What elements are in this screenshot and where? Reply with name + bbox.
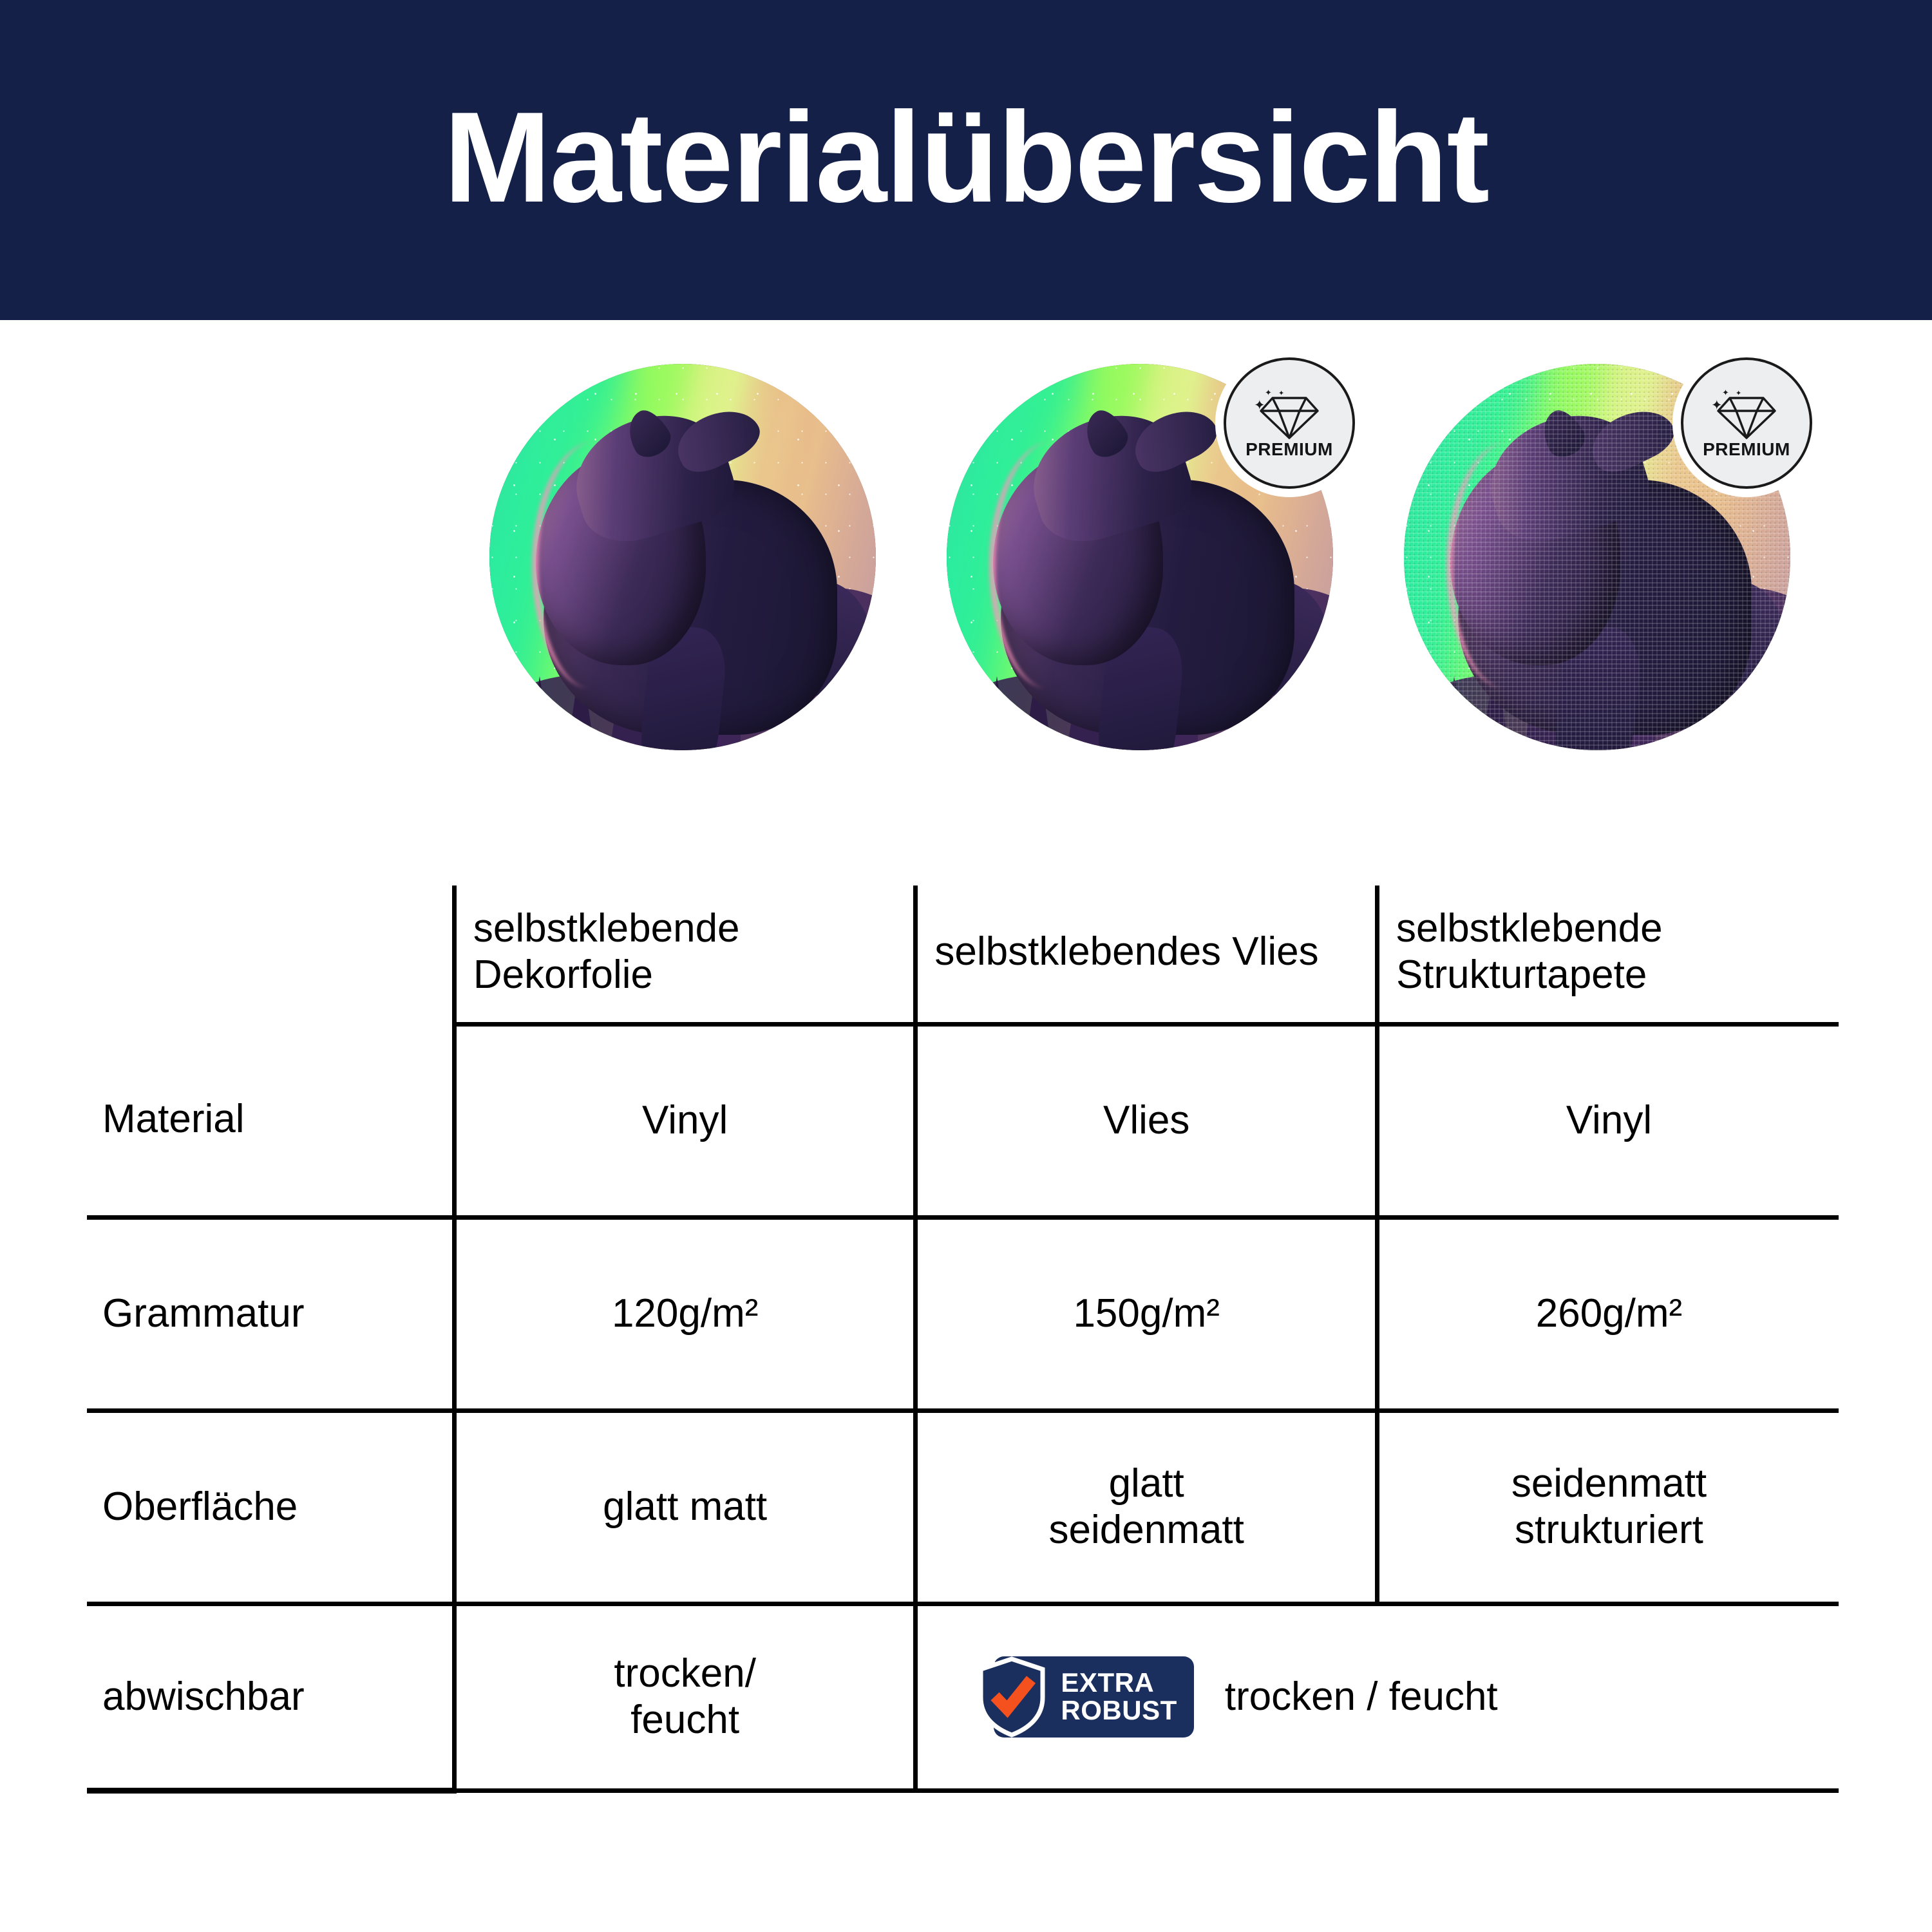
cell-grammatur-dekorfolie: 120g/m² bbox=[454, 1217, 916, 1410]
table-row: Grammatur 120g/m² 150g/m² 260g/m² bbox=[87, 1217, 1839, 1410]
cell-abwischbar-dekorfolie: trocken/feucht bbox=[454, 1604, 916, 1790]
cell-material-dekorfolie: Vinyl bbox=[454, 1024, 916, 1217]
row-label-abwischbar: abwischbar bbox=[87, 1604, 454, 1790]
table-row: Material Vinyl Vlies Vinyl bbox=[87, 1024, 1839, 1217]
cell-abwischbar-merged: EXTRA ROBUST trocken / feucht bbox=[916, 1604, 1839, 1790]
premium-badge: ✦ ✦ ✦ PREMIUM bbox=[1681, 357, 1812, 489]
product-image-dekorfolie bbox=[489, 364, 876, 750]
page-header: Materialübersicht bbox=[0, 0, 1932, 320]
material-spec-table: selbstklebende Dekorfolie selbstklebende… bbox=[87, 885, 1839, 1794]
table-corner-cell bbox=[87, 885, 454, 1024]
extra-robust-line1: EXTRA bbox=[1061, 1669, 1177, 1697]
row-label-oberflaeche: Oberfläche bbox=[87, 1410, 454, 1604]
extra-robust-line2: ROBUST bbox=[1061, 1697, 1177, 1725]
table-header-row: selbstklebende Dekorfolie selbstklebende… bbox=[87, 885, 1839, 1024]
table-row: Oberfläche glatt matt glattseidenmatt se… bbox=[87, 1410, 1839, 1604]
cell-oberflaeche-strukturtapete: seidenmattstrukturiert bbox=[1377, 1410, 1839, 1604]
row-label-grammatur: Grammatur bbox=[87, 1217, 454, 1410]
shield-check-icon bbox=[977, 1656, 1046, 1738]
cell-abwischbar-value: trocken / feucht bbox=[1225, 1674, 1498, 1720]
diamond-icon: ✦ ✦ ✦ bbox=[1255, 388, 1323, 438]
column-header-strukturtapete: selbstklebende Strukturtapete bbox=[1377, 885, 1839, 1024]
row-label-material: Material bbox=[87, 1024, 454, 1217]
premium-badge-label: PREMIUM bbox=[1703, 440, 1790, 459]
product-preview-strukturtapete[interactable]: ✦ ✦ ✦ PREMIUM bbox=[1404, 345, 1803, 770]
column-header-vlies: selbstklebendes Vlies bbox=[916, 885, 1378, 1024]
diamond-icon: ✦ ✦ ✦ bbox=[1712, 388, 1781, 438]
cell-oberflaeche-dekorfolie: glatt matt bbox=[454, 1410, 916, 1604]
table-row: abwischbar trocken/feucht EXTRA ROBUST bbox=[87, 1604, 1839, 1790]
column-header-dekorfolie: selbstklebende Dekorfolie bbox=[454, 885, 916, 1024]
premium-badge: ✦ ✦ ✦ PREMIUM bbox=[1224, 357, 1355, 489]
wolf-illustration bbox=[489, 364, 876, 750]
page-title: Materialübersicht bbox=[444, 93, 1488, 222]
product-preview-strip: ✦ ✦ ✦ PREMIUM bbox=[0, 345, 1932, 770]
cell-material-strukturtapete: Vinyl bbox=[1377, 1024, 1839, 1217]
extra-robust-badge: EXTRA ROBUST bbox=[994, 1656, 1193, 1738]
cell-grammatur-vlies: 150g/m² bbox=[916, 1217, 1378, 1410]
cell-oberflaeche-vlies: glattseidenmatt bbox=[916, 1410, 1378, 1604]
product-preview-dekorfolie[interactable] bbox=[489, 345, 889, 770]
cell-material-vlies: Vlies bbox=[916, 1024, 1378, 1217]
product-preview-vlies[interactable]: ✦ ✦ ✦ PREMIUM bbox=[947, 345, 1346, 770]
cell-grammatur-strukturtapete: 260g/m² bbox=[1377, 1217, 1839, 1410]
premium-badge-label: PREMIUM bbox=[1245, 440, 1333, 459]
